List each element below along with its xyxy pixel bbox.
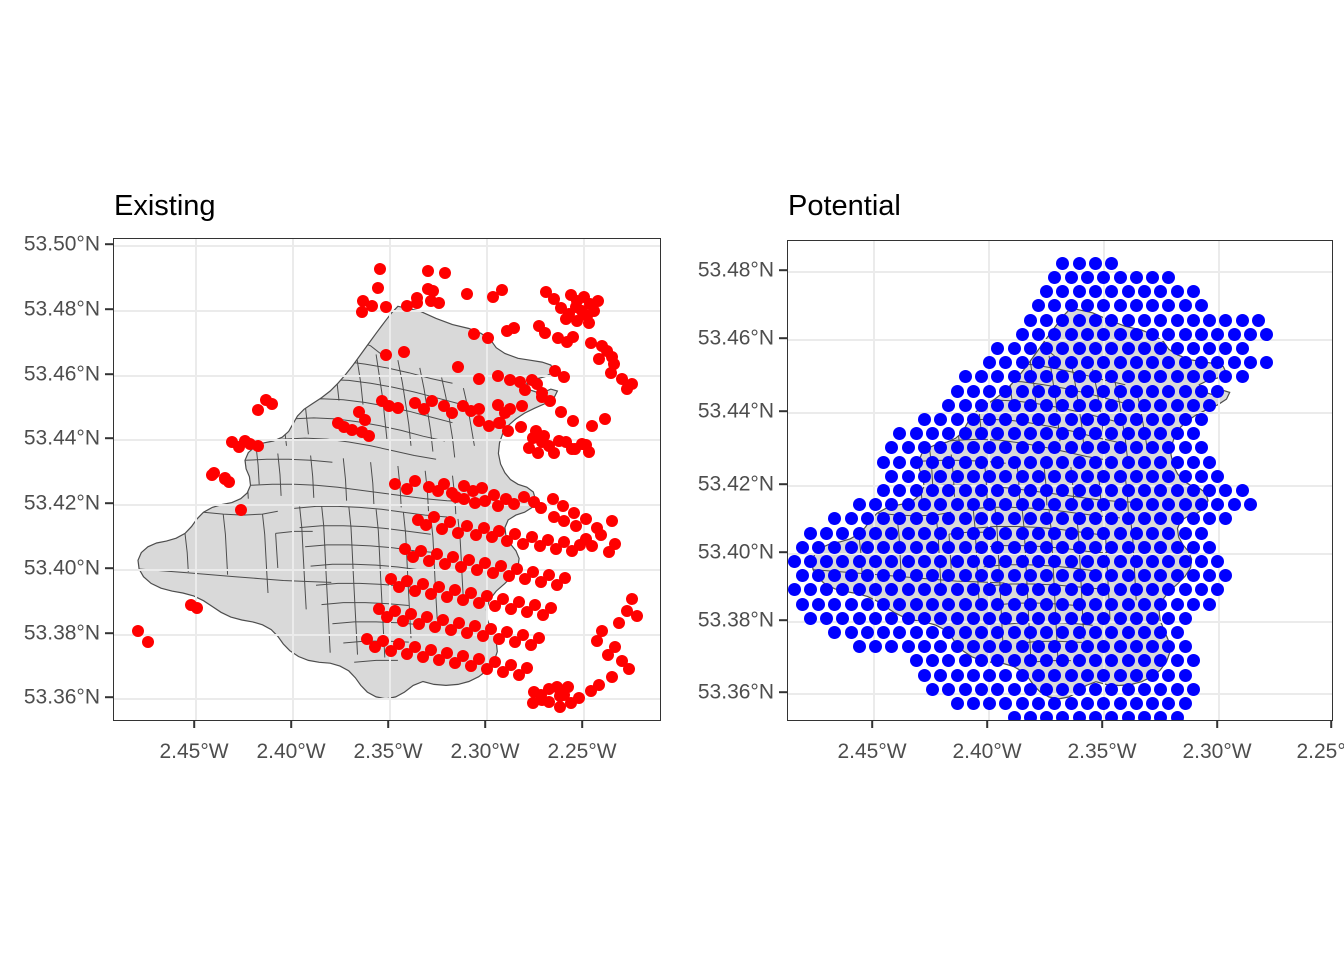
potential-point: [991, 683, 1004, 696]
potential-point: [812, 569, 825, 582]
potential-point: [1024, 541, 1037, 554]
potential-point: [1016, 413, 1029, 426]
gridline-vertical: [486, 239, 488, 720]
existing-point: [583, 446, 595, 458]
potential-point: [951, 470, 964, 483]
potential-point: [1138, 314, 1151, 327]
existing-point: [380, 301, 392, 313]
potential-point: [1008, 399, 1021, 412]
potential-point: [1048, 612, 1061, 625]
potential-point: [934, 413, 947, 426]
potential-point: [1171, 399, 1184, 412]
existing-point: [473, 373, 485, 385]
potential-point: [1187, 342, 1200, 355]
potential-point: [1073, 598, 1086, 611]
plot-area-potential[interactable]: [787, 240, 1333, 721]
potential-point: [1024, 456, 1037, 469]
ward-boundary-line: [505, 473, 535, 476]
potential-point: [1187, 399, 1200, 412]
potential-point: [1138, 598, 1151, 611]
potential-point: [1130, 271, 1143, 284]
potential-point: [1032, 640, 1045, 653]
potential-point: [1089, 399, 1102, 412]
potential-point: [951, 498, 964, 511]
potential-point: [1024, 711, 1037, 721]
potential-point: [1008, 683, 1021, 696]
potential-point: [1065, 697, 1078, 710]
potential-point: [853, 498, 866, 511]
potential-point: [1195, 413, 1208, 426]
potential-point: [959, 399, 972, 412]
potential-point: [1024, 626, 1037, 639]
potential-point: [1016, 640, 1029, 653]
potential-point: [959, 512, 972, 525]
potential-point: [1105, 314, 1118, 327]
potential-point: [975, 569, 988, 582]
potential-point: [1146, 669, 1159, 682]
panel-title-potential: Potential: [788, 192, 901, 221]
y-tick-mark: [105, 502, 113, 504]
potential-point: [1032, 527, 1045, 540]
potential-point: [869, 498, 882, 511]
potential-point: [934, 555, 947, 568]
potential-point: [1179, 385, 1192, 398]
potential-point: [1016, 669, 1029, 682]
potential-point: [1122, 683, 1135, 696]
potential-point: [902, 612, 915, 625]
potential-point: [1040, 541, 1053, 554]
existing-point: [519, 384, 531, 396]
potential-point: [885, 470, 898, 483]
y-tick-label: 53.46°N: [24, 364, 100, 385]
potential-point: [1228, 498, 1241, 511]
potential-point: [869, 527, 882, 540]
potential-point: [1040, 314, 1053, 327]
potential-point: [918, 640, 931, 653]
y-tick-mark: [105, 308, 113, 310]
potential-point: [902, 470, 915, 483]
potential-point: [999, 527, 1012, 540]
potential-point: [967, 555, 980, 568]
y-tick-mark: [105, 373, 113, 375]
potential-point: [1171, 342, 1184, 355]
y-tick-label: 53.48°N: [698, 260, 774, 281]
potential-point: [1179, 583, 1192, 596]
potential-point: [1105, 257, 1118, 270]
potential-point: [942, 541, 955, 554]
existing-point: [631, 610, 643, 622]
potential-point: [1171, 427, 1184, 440]
existing-point: [623, 663, 635, 675]
potential-point: [1032, 356, 1045, 369]
potential-point: [1154, 456, 1167, 469]
existing-point: [613, 617, 625, 629]
potential-point: [1146, 555, 1159, 568]
potential-point: [1105, 598, 1118, 611]
existing-point: [568, 507, 580, 519]
potential-point: [926, 626, 939, 639]
potential-point: [1122, 370, 1135, 383]
potential-point: [983, 612, 996, 625]
potential-point: [1130, 697, 1143, 710]
potential-point: [1024, 399, 1037, 412]
x-tick-mark: [387, 720, 389, 728]
potential-point: [1016, 498, 1029, 511]
potential-point: [1105, 399, 1118, 412]
y-tick-mark: [779, 483, 787, 485]
potential-point: [1203, 342, 1216, 355]
potential-point: [951, 583, 964, 596]
potential-point: [812, 541, 825, 554]
potential-point: [828, 541, 841, 554]
potential-point: [1097, 555, 1110, 568]
existing-point: [515, 421, 527, 433]
potential-point: [1016, 470, 1029, 483]
potential-point: [1024, 683, 1037, 696]
potential-point: [1081, 697, 1094, 710]
potential-point: [975, 598, 988, 611]
potential-point: [1089, 683, 1102, 696]
potential-point: [1024, 314, 1037, 327]
potential-point: [1154, 314, 1167, 327]
potential-point: [1114, 385, 1127, 398]
potential-point: [959, 626, 972, 639]
potential-point: [1195, 555, 1208, 568]
potential-point: [1073, 370, 1086, 383]
existing-point: [374, 263, 386, 275]
existing-point: [606, 515, 618, 527]
potential-point: [1244, 356, 1257, 369]
existing-point: [580, 513, 592, 525]
potential-point: [910, 626, 923, 639]
existing-point: [452, 361, 464, 373]
potential-point: [951, 527, 964, 540]
potential-point: [1097, 697, 1110, 710]
potential-point: [796, 598, 809, 611]
potential-point: [1097, 271, 1110, 284]
potential-point: [1032, 697, 1045, 710]
potential-point: [926, 598, 939, 611]
potential-point: [1097, 527, 1110, 540]
potential-point: [1146, 697, 1159, 710]
potential-point: [1203, 314, 1216, 327]
potential-point: [1016, 441, 1029, 454]
potential-point: [959, 427, 972, 440]
potential-point: [983, 470, 996, 483]
potential-point: [845, 512, 858, 525]
x-tick-mark: [1330, 720, 1332, 728]
potential-point: [1179, 413, 1192, 426]
potential-point: [910, 512, 923, 525]
x-tick-label: 2.40°W: [952, 741, 1021, 762]
potential-point: [1154, 399, 1167, 412]
potential-point: [951, 697, 964, 710]
potential-point: [910, 569, 923, 582]
potential-point: [1065, 385, 1078, 398]
potential-point: [967, 612, 980, 625]
potential-point: [853, 612, 866, 625]
potential-point: [910, 456, 923, 469]
existing-point: [548, 447, 560, 459]
potential-point: [1016, 328, 1029, 341]
plot-area-existing[interactable]: [113, 238, 661, 721]
potential-point: [918, 527, 931, 540]
potential-point: [983, 413, 996, 426]
y-tick-mark: [779, 691, 787, 693]
potential-point: [1122, 569, 1135, 582]
potential-point: [869, 612, 882, 625]
potential-point: [1089, 342, 1102, 355]
potential-point: [1154, 711, 1167, 721]
existing-point: [389, 478, 401, 490]
potential-point: [1089, 626, 1102, 639]
potential-point: [1130, 470, 1143, 483]
existing-point: [444, 516, 456, 528]
potential-point: [1171, 370, 1184, 383]
existing-point: [532, 447, 544, 459]
potential-point: [1114, 413, 1127, 426]
x-tick-label: 2.45°W: [159, 741, 228, 762]
existing-point: [508, 322, 520, 334]
potential-point: [1040, 484, 1053, 497]
potential-point: [918, 669, 931, 682]
potential-point: [861, 569, 874, 582]
potential-point: [1114, 527, 1127, 540]
potential-point: [991, 399, 1004, 412]
x-tick-mark: [1101, 720, 1103, 728]
existing-point: [142, 636, 154, 648]
potential-point: [1179, 299, 1192, 312]
potential-point: [1138, 541, 1151, 554]
existing-point: [599, 413, 611, 425]
potential-point: [959, 456, 972, 469]
potential-point: [1073, 427, 1086, 440]
potential-point: [1105, 541, 1118, 554]
potential-point: [1122, 342, 1135, 355]
potential-point: [967, 498, 980, 511]
potential-point: [1056, 456, 1069, 469]
potential-point: [1130, 640, 1143, 653]
potential-point: [1032, 328, 1045, 341]
existing-point: [476, 482, 488, 494]
potential-point: [1122, 512, 1135, 525]
existing-point: [191, 602, 203, 614]
potential-point: [853, 640, 866, 653]
existing-point: [585, 685, 597, 697]
potential-point: [1081, 498, 1094, 511]
potential-point: [918, 470, 931, 483]
existing-point: [606, 671, 618, 683]
potential-point: [951, 385, 964, 398]
y-tick-label: 53.46°N: [698, 328, 774, 349]
potential-point: [975, 399, 988, 412]
existing-point: [554, 701, 566, 713]
potential-point: [1236, 484, 1249, 497]
potential-point: [1089, 314, 1102, 327]
existing-point: [235, 504, 247, 516]
potential-point: [967, 470, 980, 483]
potential-point: [1179, 328, 1192, 341]
potential-point: [1073, 541, 1086, 554]
potential-point: [1065, 356, 1078, 369]
existing-point: [593, 353, 605, 365]
x-tick-mark: [193, 720, 195, 728]
potential-point: [1008, 484, 1021, 497]
existing-point: [392, 402, 404, 414]
potential-point: [1016, 356, 1029, 369]
y-tick-label: 53.42°N: [24, 493, 100, 514]
existing-point: [380, 349, 392, 361]
potential-point: [918, 498, 931, 511]
x-tick-label: 2.40°W: [256, 741, 325, 762]
existing-point: [422, 265, 434, 277]
potential-point: [967, 640, 980, 653]
y-tick-mark: [779, 269, 787, 271]
potential-point: [1065, 470, 1078, 483]
existing-point: [559, 572, 571, 584]
existing-point: [571, 315, 583, 327]
existing-point: [461, 288, 473, 300]
potential-point: [1016, 612, 1029, 625]
potential-point: [1162, 527, 1175, 540]
potential-point: [1073, 711, 1086, 721]
potential-point: [1048, 527, 1061, 540]
existing-point: [482, 332, 494, 344]
potential-point: [918, 555, 931, 568]
potential-point: [804, 527, 817, 540]
potential-point: [1146, 527, 1159, 540]
potential-point: [1146, 271, 1159, 284]
potential-point: [1130, 555, 1143, 568]
potential-point: [877, 484, 890, 497]
existing-point: [609, 538, 621, 550]
existing-point: [566, 443, 578, 455]
potential-point: [1081, 612, 1094, 625]
potential-point: [1048, 669, 1061, 682]
potential-point: [910, 427, 923, 440]
existing-point: [586, 420, 598, 432]
potential-point: [902, 640, 915, 653]
potential-point: [1179, 697, 1192, 710]
existing-point: [409, 475, 421, 487]
potential-point: [1081, 413, 1094, 426]
x-tick-mark: [986, 720, 988, 728]
potential-point: [1114, 612, 1127, 625]
existing-point: [426, 395, 438, 407]
potential-point: [1252, 314, 1265, 327]
potential-point: [1138, 456, 1151, 469]
potential-point: [1114, 328, 1127, 341]
potential-point: [1195, 385, 1208, 398]
potential-point: [1073, 569, 1086, 582]
y-tick-mark: [779, 551, 787, 553]
potential-point: [1195, 498, 1208, 511]
potential-point: [983, 669, 996, 682]
existing-point: [583, 317, 595, 329]
potential-point: [1032, 498, 1045, 511]
potential-point: [861, 598, 874, 611]
potential-point: [1138, 569, 1151, 582]
existing-point: [626, 593, 638, 605]
potential-point: [959, 484, 972, 497]
existing-point: [398, 346, 410, 358]
potential-point: [983, 697, 996, 710]
potential-point: [1008, 456, 1021, 469]
potential-point: [926, 456, 939, 469]
x-tick-label: 2.30°W: [1182, 741, 1251, 762]
potential-point: [1089, 598, 1102, 611]
y-tick-label: 53.38°N: [24, 623, 100, 644]
potential-point: [877, 626, 890, 639]
potential-point: [991, 541, 1004, 554]
potential-point: [1065, 413, 1078, 426]
potential-point: [1219, 314, 1232, 327]
potential-point: [853, 527, 866, 540]
potential-point: [1114, 640, 1127, 653]
existing-point: [504, 403, 516, 415]
y-tick-label: 53.48°N: [24, 299, 100, 320]
x-tick-mark: [290, 720, 292, 728]
existing-point: [521, 662, 533, 674]
y-tick-mark: [105, 632, 113, 634]
potential-point: [1162, 385, 1175, 398]
y-tick-label: 53.38°N: [698, 610, 774, 631]
potential-point: [1114, 299, 1127, 312]
potential-point: [1016, 697, 1029, 710]
potential-point: [1130, 328, 1143, 341]
potential-point: [1122, 456, 1135, 469]
potential-point: [1008, 370, 1021, 383]
potential-point: [1065, 271, 1078, 284]
y-tick-mark: [779, 337, 787, 339]
potential-point: [1228, 328, 1241, 341]
existing-point: [595, 529, 607, 541]
potential-point: [1097, 413, 1110, 426]
existing-point: [428, 511, 440, 523]
potential-point: [853, 555, 866, 568]
potential-point: [1122, 541, 1135, 554]
potential-point: [1122, 711, 1135, 721]
potential-point: [1179, 441, 1192, 454]
potential-point: [1179, 669, 1192, 682]
potential-point: [1040, 456, 1053, 469]
existing-point: [252, 440, 264, 452]
potential-point: [1114, 498, 1127, 511]
potential-point: [1130, 413, 1143, 426]
potential-point: [1171, 683, 1184, 696]
potential-point: [959, 598, 972, 611]
potential-point: [975, 683, 988, 696]
potential-point: [967, 413, 980, 426]
panel-title-existing: Existing: [114, 192, 216, 221]
potential-point: [1089, 711, 1102, 721]
gridline-horizontal: [788, 271, 1332, 273]
potential-point: [1089, 257, 1102, 270]
potential-point: [1089, 484, 1102, 497]
potential-point: [1024, 569, 1037, 582]
potential-point: [1065, 583, 1078, 596]
existing-point: [132, 625, 144, 637]
potential-point: [951, 612, 964, 625]
potential-point: [1073, 512, 1086, 525]
potential-point: [1097, 669, 1110, 682]
potential-point: [975, 456, 988, 469]
potential-point: [1154, 541, 1167, 554]
y-tick-label: 53.50°N: [24, 234, 100, 255]
potential-point: [796, 569, 809, 582]
potential-point: [1073, 654, 1086, 667]
existing-point: [558, 689, 570, 701]
